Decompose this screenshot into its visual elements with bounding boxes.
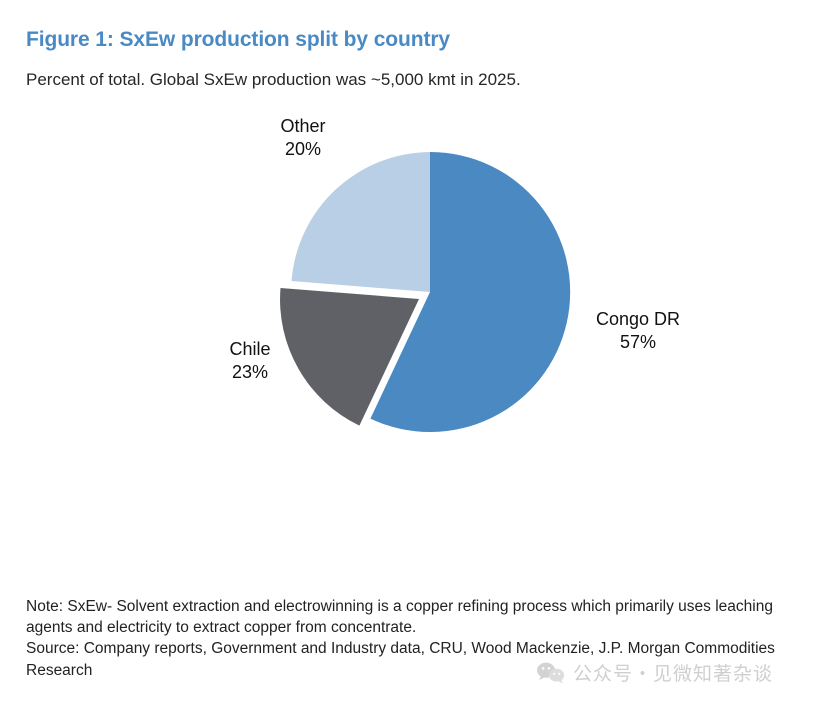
pie-label-other-name: Other (243, 115, 363, 138)
figure-footer: Note: SxEw- Solvent extraction and elect… (26, 596, 816, 681)
pie-label-chile-name: Chile (195, 338, 305, 361)
figure-note: Note: SxEw- Solvent extraction and elect… (26, 596, 788, 638)
pie-chart: Other 20% Congo DR 57% Chile 23% (0, 100, 830, 570)
pie-label-other: Other 20% (243, 115, 363, 161)
figure-source: Source: Company reports, Government and … (26, 638, 794, 680)
pie-label-congo-dr-value: 57% (578, 331, 698, 354)
pie-label-congo-dr-name: Congo DR (578, 308, 698, 331)
figure-subtitle: Percent of total. Global SxEw production… (26, 70, 521, 90)
pie-label-other-value: 20% (243, 138, 363, 161)
pie-label-congo-dr: Congo DR 57% (578, 308, 698, 354)
pie-label-chile: Chile 23% (195, 338, 305, 384)
figure-container: Figure 1: SxEw production split by count… (0, 0, 830, 705)
pie-label-chile-value: 23% (195, 361, 305, 384)
figure-title: Figure 1: SxEw production split by count… (26, 28, 450, 52)
pie-slice-other[interactable] (292, 152, 431, 292)
pie-chart-svg (0, 100, 830, 570)
